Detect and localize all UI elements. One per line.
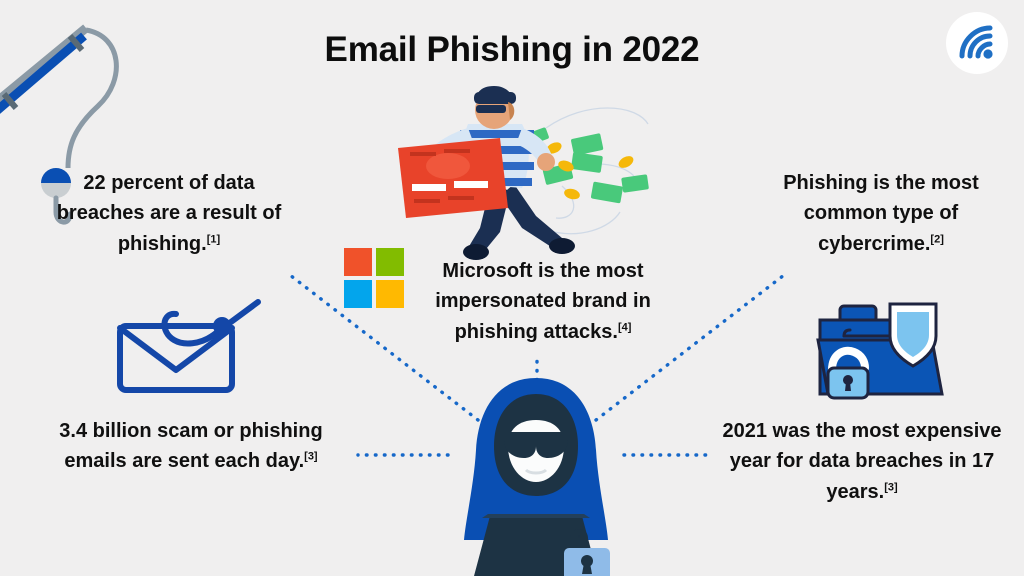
fact-text: 3.4 billion scam or phishing emails are … — [59, 420, 322, 472]
ms-square-orange — [344, 248, 372, 276]
citation-marker: [4] — [618, 321, 631, 333]
fact-text: Phishing is the most common type of cybe… — [783, 172, 979, 255]
fact-text: 22 percent of data breaches are a result… — [57, 172, 282, 255]
fact-block-common-cybercrime: Phishing is the most common type of cybe… — [748, 168, 1014, 259]
hacker-with-laptop-icon — [452, 368, 620, 576]
citation-marker: [3] — [304, 451, 317, 463]
fact-block-expensive-year: 2021 was the most expensive year for dat… — [706, 416, 1018, 507]
citation-marker: [2] — [930, 233, 943, 245]
fact-text: 2021 was the most expensive year for dat… — [722, 420, 1001, 503]
page-title: Email Phishing in 2022 — [0, 30, 1024, 70]
secure-folder-shield-icon — [810, 292, 958, 404]
infographic-canvas: 22 percent of data breaches are a result… — [0, 0, 1024, 576]
phishing-email-hook-icon — [108, 296, 268, 396]
citation-marker: [3] — [884, 481, 897, 493]
fact-block-data-breaches: 22 percent of data breaches are a result… — [38, 168, 300, 259]
fact-block-scam-emails-per-day: 3.4 billion scam or phishing emails are … — [35, 416, 347, 477]
citation-marker: [1] — [207, 233, 220, 245]
fact-block-microsoft-impersonated: Microsoft is the most impersonated brand… — [398, 256, 688, 347]
microsoft-logo-icon — [344, 248, 406, 310]
thief-stealing-money-illustration — [396, 80, 676, 260]
ms-square-blue — [344, 280, 372, 308]
